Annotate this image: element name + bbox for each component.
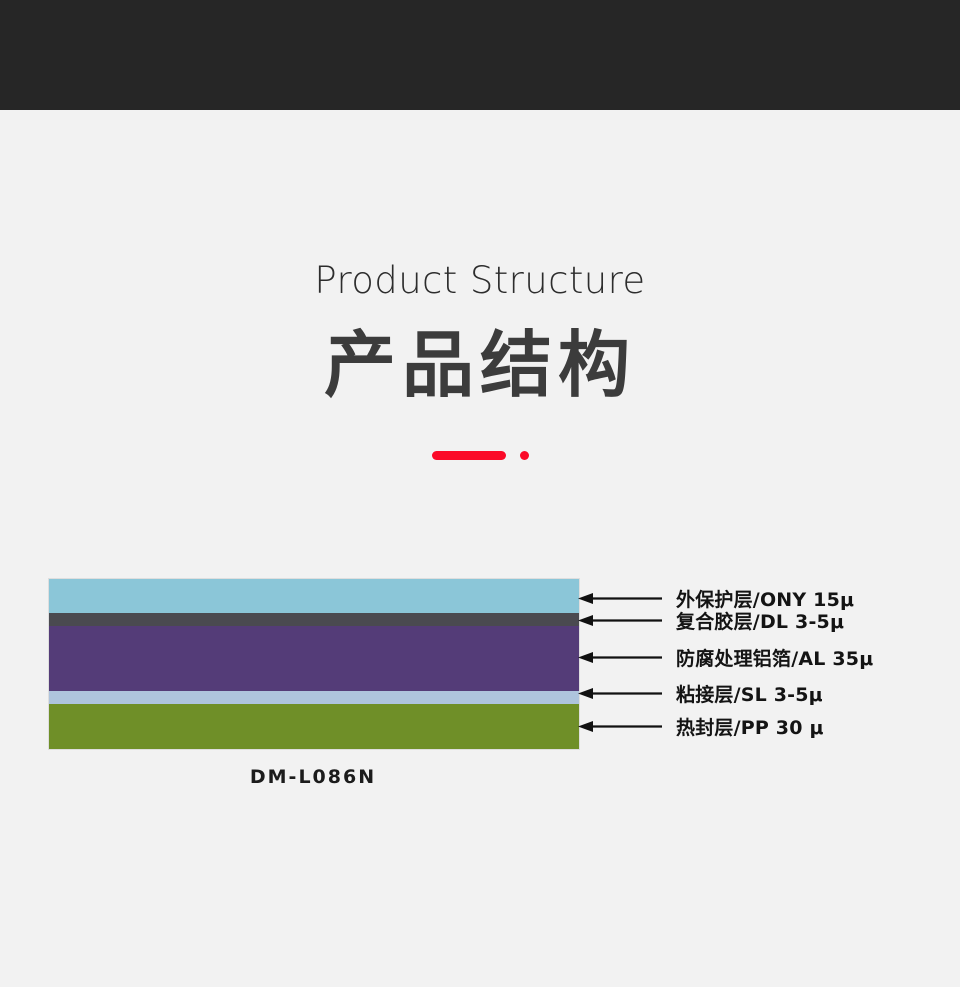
left-arrow-icon xyxy=(578,721,662,732)
layer-anti-corrosion-aluminum-foil xyxy=(49,626,579,691)
divider-dot xyxy=(520,451,529,460)
left-arrow-icon xyxy=(578,593,662,604)
top-dark-band xyxy=(0,0,960,110)
left-arrow-icon xyxy=(578,652,662,663)
left-arrow-icon xyxy=(578,615,662,626)
page-title-english: Product Structure xyxy=(0,255,960,307)
callout-label: 粘接层/SL 3-5μ xyxy=(676,680,823,707)
layer-bonding-layer xyxy=(49,691,579,704)
callout-label: 防腐处理铝箔/AL 35μ xyxy=(676,644,873,671)
callout-label: 热封层/PP 30 μ xyxy=(676,713,824,740)
layer-heat-seal-layer xyxy=(49,704,579,749)
layer-outer-protective-layer xyxy=(49,579,579,613)
heading-block: Product Structure 产品结构 xyxy=(0,255,960,413)
callout-row: 粘接层/SL 3-5μ xyxy=(578,683,823,703)
product-structure-diagram: DM-L086N xyxy=(48,578,580,788)
callout-row: 外保护层/ONY 15μ xyxy=(578,588,854,608)
layer-callouts: 外保护层/ONY 15μ复合胶层/DL 3-5μ防腐处理铝箔/AL 35μ粘接层… xyxy=(578,578,938,750)
divider-bar xyxy=(432,451,506,460)
callout-row: 热封层/PP 30 μ xyxy=(578,716,824,736)
product-model-caption: DM-L086N xyxy=(48,766,578,788)
page-title-chinese: 产品结构 xyxy=(0,317,960,413)
accent-divider xyxy=(0,451,960,460)
callout-row: 防腐处理铝箔/AL 35μ xyxy=(578,647,873,667)
layer-laminating-adhesive-layer xyxy=(49,613,579,626)
callout-label: 复合胶层/DL 3-5μ xyxy=(676,607,844,634)
layer-stack xyxy=(48,578,580,750)
callout-row: 复合胶层/DL 3-5μ xyxy=(578,610,844,630)
left-arrow-icon xyxy=(578,688,662,699)
